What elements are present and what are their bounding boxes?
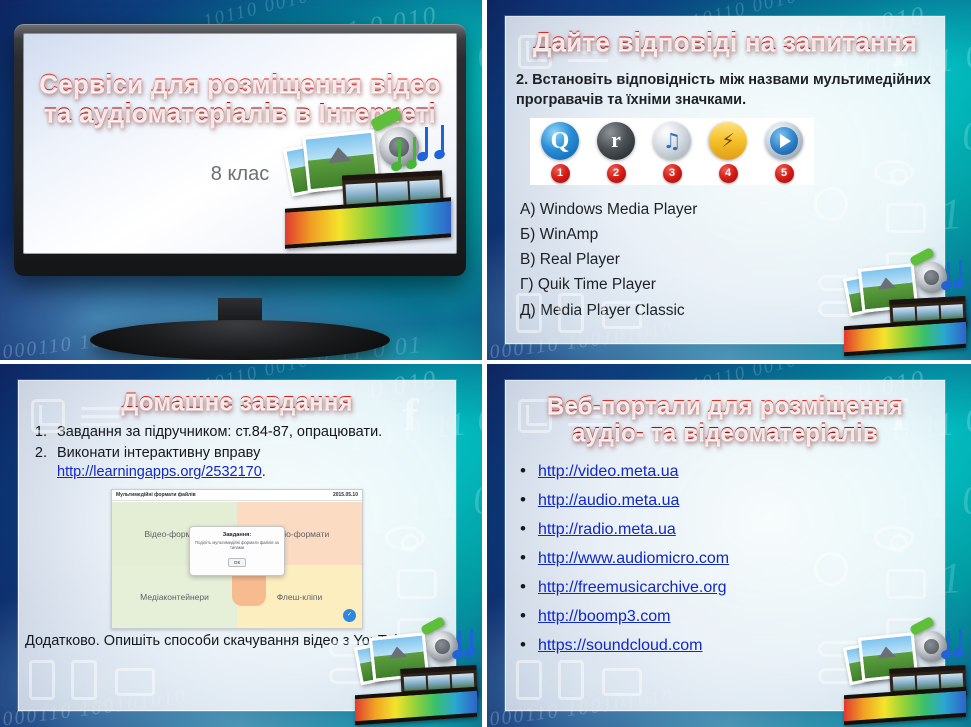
portal-link[interactable]: http://video.meta.ua <box>538 463 679 481</box>
modal-title: Завдання: <box>194 532 280 538</box>
icon-badge: 1 <box>551 164 570 183</box>
realplayer-icon <box>597 122 635 160</box>
player-icon-2[interactable]: 2 <box>596 122 636 183</box>
list-item: • https://soundcloud.com <box>520 631 936 660</box>
toggle-icon <box>818 668 864 684</box>
answer-list: А) Windows Media Player Б) WinAmp В) Rea… <box>520 197 932 323</box>
page-title: Веб-портали для розміщення аудіо- та від… <box>516 393 934 447</box>
question-text: 2. Встановіть відповідність між назвами … <box>516 70 934 110</box>
homework-list: 1. Завдання за підручником: ст.84-87, оп… <box>25 422 449 483</box>
item-number: 2. <box>25 444 47 482</box>
portal-link[interactable]: http://www.audiomicro.com <box>538 550 729 568</box>
player-icon-3[interactable]: 3 <box>652 122 692 183</box>
bullet: • <box>520 549 526 566</box>
content-panel: Дайте відповіді на запитання 2. Встанові… <box>505 16 945 344</box>
windows-media-player-icon <box>765 122 803 160</box>
content-panel: Веб-портали для розміщення аудіо- та від… <box>505 380 945 711</box>
toggle-icon <box>329 668 375 684</box>
list-item: • http://video.meta.ua <box>520 457 936 486</box>
content-panel: Домашнє завдання 1. Завдання за підручни… <box>18 380 456 711</box>
icon-badge: 2 <box>607 164 626 183</box>
screenshot-header: Мультимедійні формати файлів 2015.05.10 <box>112 490 362 501</box>
subtitle: 8 клас <box>23 163 457 186</box>
phone-icon <box>516 660 542 700</box>
portal-link[interactable]: https://soundcloud.com <box>538 637 703 655</box>
icon-badge: 3 <box>663 164 682 183</box>
icon-badge: 4 <box>719 164 738 183</box>
page-title: Домашнє завдання <box>27 389 447 416</box>
slide-title[interactable]: 10110 0010 1 0011 1 0 010 1 0 0 11 0 1 1… <box>0 0 482 360</box>
title-line-1: Сервіси для розміщення відео <box>23 69 457 98</box>
slide-grid: 10110 0010 1 0011 1 0 010 1 0 0 11 0 1 1… <box>0 0 971 727</box>
list-item: • http://audio.meta.ua <box>520 486 936 515</box>
item-text-wrap: Виконати інтерактивну вправу http://lear… <box>57 444 266 482</box>
slide-homework[interactable]: 10110 0010 1 0011 1 0 010 1 0 0 11 0 1 1… <box>0 364 482 727</box>
speaker-icon <box>379 127 419 167</box>
item-text: Виконати інтерактивну вправу <box>57 445 260 461</box>
portal-link[interactable]: http://freemusicarchive.org <box>538 579 727 597</box>
tv-monitor-frame: Сервіси для розміщення відео та аудіомат… <box>14 24 466 276</box>
portal-link[interactable]: http://boomp3.com <box>538 608 671 626</box>
answer-item: Г) Quik Time Player <box>520 272 932 297</box>
answer-item: В) Real Player <box>520 247 932 272</box>
answer-item: А) Windows Media Player <box>520 197 932 222</box>
list-item: 1. Завдання за підручником: ст.84-87, оп… <box>25 422 449 443</box>
player-icons-strip: 1 2 3 4 5 <box>530 118 814 185</box>
tag-icon <box>397 569 437 599</box>
portal-links-list: • http://video.meta.ua • http://audio.me… <box>520 457 936 660</box>
learningapps-link[interactable]: http://learningapps.org/2532170 <box>57 464 262 480</box>
player-icon-1[interactable]: 1 <box>540 122 580 183</box>
tv-screen: Сервіси для розміщення відео та аудіомат… <box>23 33 457 254</box>
task-modal: Завдання: Поділіть мультимедійні формати… <box>189 526 285 576</box>
title-line-2: та аудіоматеріалів в Інтернеті <box>23 98 457 127</box>
screenshot-title: Мультимедійні формати файлів <box>116 492 196 498</box>
bullet: • <box>520 520 526 537</box>
rainbow-film-strip <box>285 197 451 249</box>
eye-icon <box>874 160 914 184</box>
bullet: • <box>520 578 526 595</box>
music-note-icon <box>421 125 451 165</box>
phone-icon <box>558 660 584 700</box>
list-item: • http://boomp3.com <box>520 602 936 631</box>
item-number: 1. <box>25 423 47 442</box>
tablet-icon <box>602 668 642 696</box>
winamp-icon <box>701 114 755 168</box>
list-item: 2. Виконати інтерактивну вправу http://l… <box>25 443 449 483</box>
bullet: • <box>520 491 526 508</box>
player-icon-4[interactable]: 4 <box>708 122 748 183</box>
icon-badge: 5 <box>775 164 794 183</box>
item-text: Завдання за підручником: ст.84-87, опрац… <box>57 423 382 442</box>
bullet: • <box>520 636 526 653</box>
slide-portals[interactable]: 10110 0010 1 0011 1 0 010 1 0 0 11 0 1 1… <box>487 364 971 727</box>
page-title: Сервіси для розміщення відео та аудіомат… <box>23 69 457 127</box>
portal-link[interactable]: http://audio.meta.ua <box>538 492 679 510</box>
quicktime-icon <box>541 122 579 160</box>
list-item: • http://freemusicarchive.org <box>520 573 936 602</box>
portal-link[interactable]: http://radio.meta.ua <box>538 521 676 539</box>
tablet-icon <box>115 668 155 696</box>
eye-icon <box>385 526 425 550</box>
answer-item: Д) Media Player Classic <box>520 298 932 323</box>
homework-footer: Додатково. Опишіть способи скачування ві… <box>25 633 449 649</box>
itunes-music-icon <box>653 122 691 160</box>
modal-ok-button[interactable]: ОК <box>228 558 246 567</box>
screenshot-date: 2015.05.10 <box>333 492 358 498</box>
phone-icon <box>29 660 55 700</box>
bullet: • <box>520 607 526 624</box>
bullet: • <box>520 462 526 479</box>
learningapps-screenshot[interactable]: Мультимедійні формати файлів 2015.05.10 … <box>111 489 363 629</box>
phone-icon <box>71 660 97 700</box>
tv-stand-base <box>90 320 390 360</box>
page-title: Дайте відповіді на запитання <box>514 27 936 56</box>
list-item: • http://radio.meta.ua <box>520 515 936 544</box>
slide-questions[interactable]: 10110 0010 1 0011 1 0 010 1 0 0 11 0 1 1… <box>487 0 971 360</box>
answer-item: Б) WinAmp <box>520 222 932 247</box>
list-item: • http://www.audiomicro.com <box>520 544 936 573</box>
title-line-1: Веб-портали для розміщення <box>516 393 934 420</box>
player-icon-5[interactable]: 5 <box>764 122 804 183</box>
modal-text: Поділіть мультимедійні формати файлів за… <box>194 540 280 551</box>
title-line-2: аудіо- та відеоматеріалів <box>516 420 934 447</box>
item-trailing: . <box>262 464 266 480</box>
